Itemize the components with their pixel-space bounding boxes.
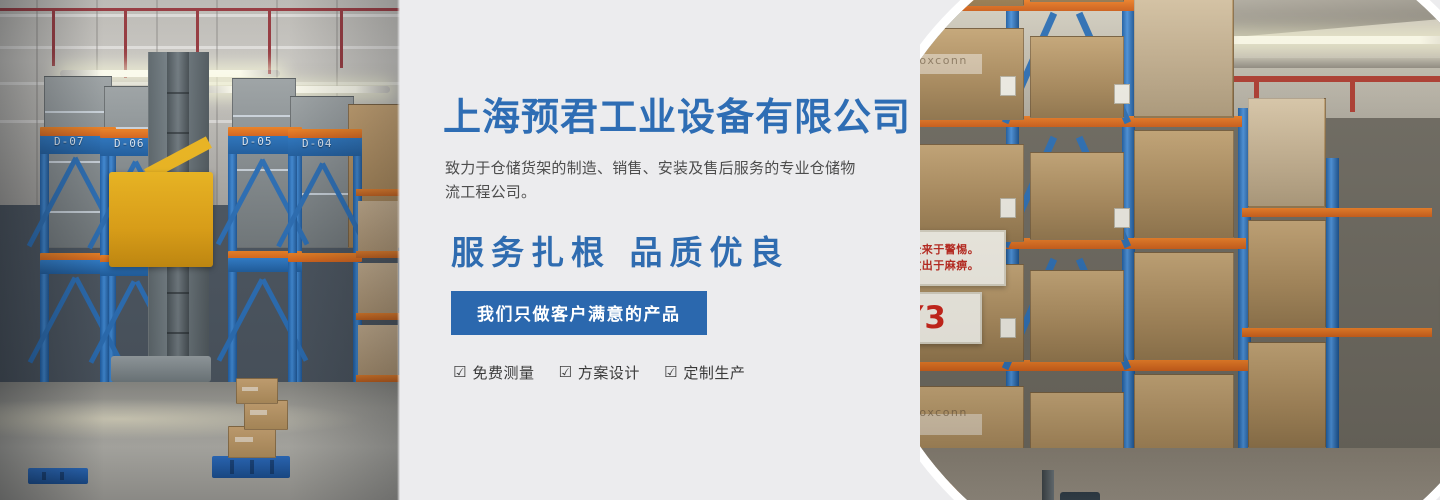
rack-bay: D-04 (288, 130, 362, 382)
check-box-icon: ☑ (558, 365, 571, 380)
feature-item-custom-production[interactable]: ☑ 定制生产 (664, 362, 745, 383)
circular-photo-frame: Foxconn Foxconn Foxconn Foxconn 安全来于警惕。 … (920, 0, 1440, 500)
feature-label: 定制生产 (683, 362, 745, 383)
check-box-icon: ☑ (664, 365, 677, 380)
rack-label: D-05 (242, 135, 273, 148)
feature-label: 免费测量 (472, 362, 534, 383)
carton-brand-mark: Foxconn (920, 54, 968, 67)
rack-label: D-04 (302, 137, 333, 150)
page-title: 上海预君工业设备有限公司 (443, 96, 1003, 140)
safety-sign-line-2: 事故出于麻痹。 (920, 258, 979, 275)
feature-item-scheme-design[interactable]: ☑ 方案设计 (558, 362, 639, 383)
aisle-sign-label: Y3 (920, 300, 947, 336)
check-box-icon: ☑ (453, 365, 466, 380)
cta-button[interactable]: 我们只做客户满意的产品 (451, 291, 707, 335)
rack-label: D-07 (54, 135, 85, 148)
carton-brand-mark: Foxconn (920, 406, 968, 419)
floor (920, 448, 1440, 500)
safety-sign-line-1: 安全来于警惕。 (920, 242, 979, 259)
feature-item-free-measure[interactable]: ☑ 免费测量 (453, 362, 534, 383)
subtitle: 致力于仓储货架的制造、销售、安装及售后服务的专业仓储物流工程公司。 (445, 156, 860, 205)
hero-banner: D-07 D-06 D-05 (0, 0, 1440, 500)
rack-label: D-06 (114, 137, 145, 150)
right-warehouse-photo: Foxconn Foxconn Foxconn Foxconn 安全来于警惕。 … (920, 0, 1440, 500)
feature-label: 方案设计 (578, 362, 640, 383)
safety-sign: 安全来于警惕。 事故出于麻痹。 (920, 230, 1006, 286)
shelving-unit (356, 130, 400, 382)
vna-forklift (148, 52, 209, 382)
left-warehouse-photo: D-07 D-06 D-05 (0, 0, 400, 500)
aisle-sign: Y3 (920, 292, 982, 344)
forklift (1038, 470, 1112, 500)
blue-pallet (212, 456, 290, 478)
